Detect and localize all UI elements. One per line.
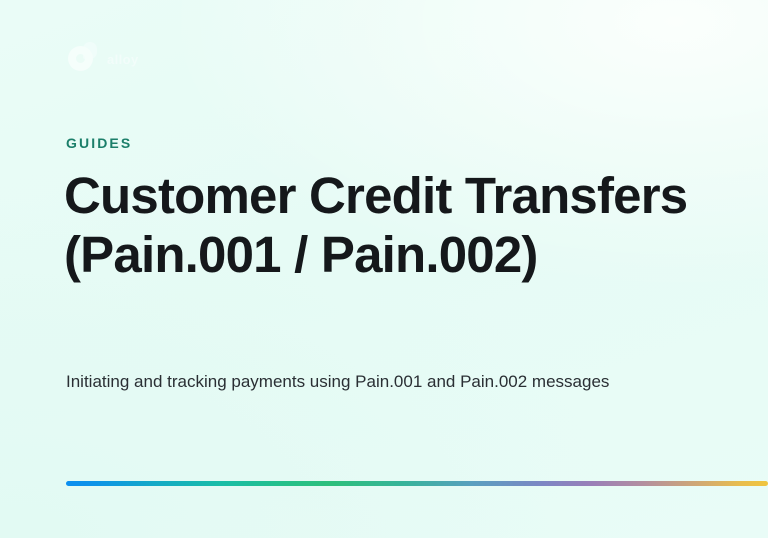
logo-petal-shape: [83, 42, 97, 59]
brand-circle-mark-icon: [66, 42, 100, 76]
page-title: Customer Credit Transfers (Pain.001 / Pa…: [64, 166, 724, 284]
page-subtitle: Initiating and tracking payments using P…: [66, 368, 666, 396]
hero-banner: alloy GUIDES Customer Credit Transfers (…: [0, 0, 768, 538]
brand-wordmark: alloy: [107, 53, 139, 66]
category-eyebrow: GUIDES: [66, 136, 132, 150]
gradient-divider: [66, 481, 768, 486]
brand-logo[interactable]: alloy: [66, 42, 139, 76]
